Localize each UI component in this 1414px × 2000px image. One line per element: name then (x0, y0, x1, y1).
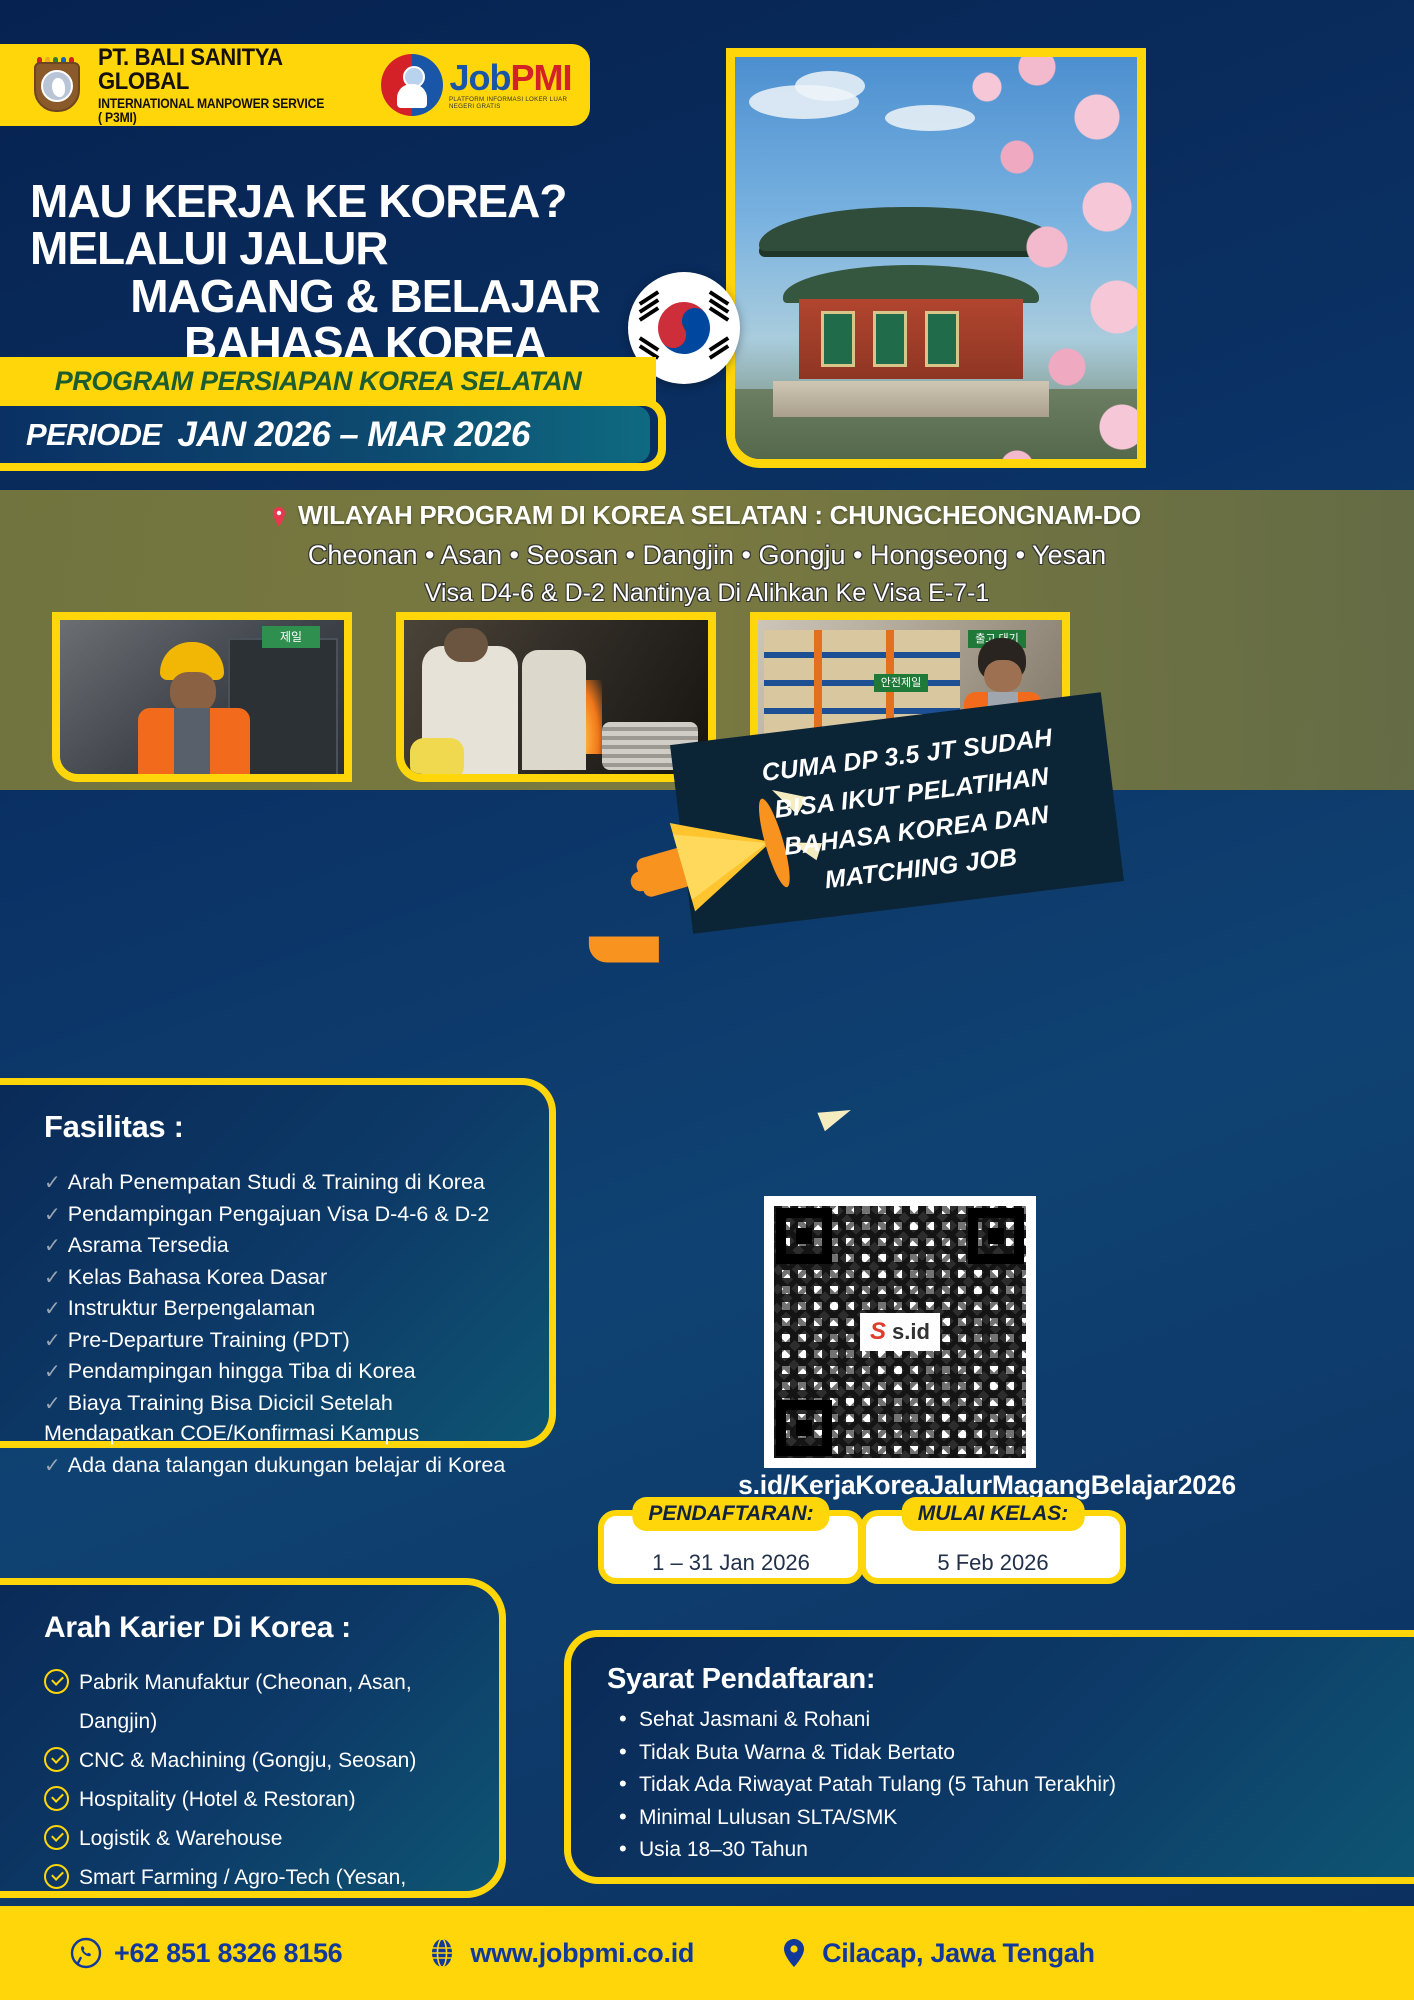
poster-root: PT. BALI SANITYA GLOBAL INTERNATIONAL MA… (0, 0, 1414, 2000)
warehouse-sign-1-text: 안전제일 (874, 674, 928, 692)
career-list: Pabrik Manufaktur (Cheonan, Asan, Dangji… (44, 1663, 477, 1936)
footer-website[interactable]: www.jobpmi.co.id (426, 1937, 694, 1969)
hero-palace-photo (726, 48, 1146, 468)
career-text: Logistik & Warehouse (79, 1819, 283, 1858)
facility-text: Ada dana talangan dukungan belajar di Ko… (68, 1453, 506, 1477)
registration-value: 1 – 31 Jan 2026 (604, 1550, 858, 1576)
list-item: ✓Pendampingan Pengajuan Visa D-4-6 & D-2 (44, 1199, 527, 1230)
circle-check-icon (44, 1747, 69, 1772)
circle-check-icon (44, 1864, 69, 1889)
list-item: ✓Biaya Training Bisa Dicicil Setelah Men… (44, 1388, 527, 1449)
footer-location: Cilacap, Jawa Tengah (778, 1937, 1095, 1969)
region-text-block: WILAYAH PROGRAM DI KOREA SELATAN : CHUNG… (0, 500, 1414, 608)
facility-text: Arah Penempatan Studi & Training di Kore… (68, 1170, 485, 1194)
photo-kitchen-worker (396, 612, 716, 782)
facility-text: Biaya Training Bisa Dicicil Setelah Mend… (44, 1391, 419, 1446)
period-bar: PERIODE JAN 2026 – MAR 2026 (0, 406, 650, 463)
headline-line-2: MELALUI JALUR (30, 225, 700, 272)
bali-sanitya-crest-icon (30, 54, 84, 116)
facility-text: Kelas Bahasa Korea Dasar (68, 1265, 327, 1289)
circle-check-icon (44, 1669, 69, 1694)
company-name-line1: PT. BALI SANITYA GLOBAL (98, 46, 333, 94)
check-icon: ✓ (44, 1204, 61, 1226)
facility-text: Pre-Departure Training (PDT) (68, 1328, 350, 1352)
check-icon: ✓ (44, 1361, 61, 1383)
hero-headline: MAU KERJA KE KOREA? MELALUI JALUR MAGANG… (0, 178, 700, 368)
registration-label: PENDAFTARAN: (632, 1497, 829, 1531)
sparkle-icon-3 (817, 1101, 854, 1132)
list-item: Sehat Jasmani & Rohani (607, 1704, 1392, 1737)
list-item: ✓Ada dana talangan dukungan belajar di K… (44, 1450, 527, 1481)
company-name-line2: INTERNATIONAL MANPOWER SERVICE ( P3MI) (98, 97, 328, 124)
sid-text: s.id (892, 1319, 930, 1345)
list-item: ✓Pendampingan hingga Tiba di Korea (44, 1356, 527, 1387)
list-item: ✓Asrama Tersedia (44, 1230, 527, 1261)
region-title: WILAYAH PROGRAM DI KOREA SELATAN : CHUNG… (298, 500, 1141, 530)
jobpmi-logo: JobPMI PLATFORM INFORMASI LOKER LUAR NEG… (381, 54, 590, 116)
sid-s-icon: S (870, 1318, 886, 1346)
factory-sign-text: 제일 (262, 626, 320, 648)
career-card: Arah Karier Di Korea : Pabrik Manufaktur… (0, 1578, 506, 1898)
facilities-card: Fasilitas : ✓Arah Penempatan Studi & Tra… (0, 1078, 556, 1448)
class-start-label: MULAI KELAS: (902, 1497, 1085, 1531)
list-item: Hospitality (Hotel & Restoran) (44, 1780, 477, 1819)
circle-check-icon (44, 1825, 69, 1850)
list-item: ✓Kelas Bahasa Korea Dasar (44, 1262, 527, 1293)
facility-text: Pendampingan hingga Tiba di Korea (68, 1359, 416, 1383)
map-pin-icon (273, 507, 285, 527)
company-name-block: PT. BALI SANITYA GLOBAL INTERNATIONAL MA… (98, 46, 353, 124)
check-icon: ✓ (44, 1330, 61, 1352)
list-item: Logistik & Warehouse (44, 1819, 477, 1858)
career-title: Arah Karier Di Korea : (44, 1611, 477, 1645)
footer-phone[interactable]: +62 851 8326 8156 (70, 1937, 342, 1969)
check-icon: ✓ (44, 1298, 61, 1320)
program-subtitle: PROGRAM PERSIAPAN KOREA SELATAN (55, 366, 582, 397)
list-item: Tidak Ada Riwayat Patah Tulang (5 Tahun … (607, 1769, 1392, 1802)
period-label: PERIODE (26, 417, 161, 453)
facilities-title: Fasilitas : (44, 1109, 527, 1145)
list-item: Tidak Buta Warna & Tidak Bertato (607, 1737, 1392, 1770)
requirements-list: Sehat Jasmani & Rohani Tidak Buta Warna … (607, 1704, 1392, 1867)
list-item: Usia 18–30 Tahun (607, 1834, 1392, 1867)
footer-phone-text: +62 851 8326 8156 (114, 1938, 342, 1969)
facilities-list: ✓Arah Penempatan Studi & Training di Kor… (44, 1167, 527, 1480)
list-item: ✓Instruktur Berpengalaman (44, 1293, 527, 1324)
globe-icon (426, 1937, 458, 1969)
jobpmi-tagline: PLATFORM INFORMASI LOKER LUAR NEGERI GRA… (449, 97, 582, 110)
list-item: ✓Pre-Departure Training (PDT) (44, 1325, 527, 1356)
whatsapp-icon (70, 1937, 102, 1969)
jobpmi-pmi-text: PMI (511, 57, 572, 98)
check-icon: ✓ (44, 1235, 61, 1257)
list-item: Pabrik Manufaktur (Cheonan, Asan, Dangji… (44, 1663, 477, 1741)
footer-contact-bar: +62 851 8326 8156 www.jobpmi.co.id Cilac… (0, 1906, 1414, 2000)
class-start-value: 5 Feb 2026 (866, 1550, 1120, 1576)
headline-line-3: MAGANG & BELAJAR (30, 273, 700, 320)
registration-date-box: PENDAFTARAN: 1 – 31 Jan 2026 (598, 1510, 864, 1584)
jobpmi-job-text: Job (449, 57, 510, 98)
career-text: CNC & Machining (Gongju, Seosan) (79, 1741, 416, 1780)
list-item: CNC & Machining (Gongju, Seosan) (44, 1741, 477, 1780)
footer-location-text: Cilacap, Jawa Tengah (822, 1938, 1095, 1969)
photo-factory-worker: 제일 (52, 612, 352, 782)
check-icon: ✓ (44, 1172, 61, 1194)
location-pin-icon (778, 1937, 810, 1969)
qr-code[interactable]: S s.id (764, 1196, 1036, 1468)
logo-bar: PT. BALI SANITYA GLOBAL INTERNATIONAL MA… (0, 44, 590, 126)
program-subtitle-bar: PROGRAM PERSIAPAN KOREA SELATAN (0, 357, 656, 405)
footer-website-text: www.jobpmi.co.id (470, 1938, 694, 1969)
region-visa-note: Visa D4-6 & D-2 Nantinya Di Alihkan Ke V… (0, 579, 1414, 608)
requirements-title: Syarat Pendaftaran: (607, 1663, 1392, 1696)
facility-text: Pendampingan Pengajuan Visa D-4-6 & D-2 (68, 1202, 490, 1226)
check-icon: ✓ (44, 1393, 61, 1415)
requirements-card: Syarat Pendaftaran: Sehat Jasmani & Roha… (564, 1630, 1414, 1884)
facility-text: Asrama Tersedia (68, 1233, 229, 1257)
facility-text: Instruktur Berpengalaman (68, 1296, 315, 1320)
class-start-date-box: MULAI KELAS: 5 Feb 2026 (860, 1510, 1126, 1584)
career-text: Hospitality (Hotel & Restoran) (79, 1780, 356, 1819)
check-icon: ✓ (44, 1455, 61, 1477)
region-cities: Cheonan • Asan • Seosan • Dangjin • Gong… (0, 540, 1414, 571)
period-value: JAN 2026 – MAR 2026 (177, 415, 529, 455)
headline-line-1: MAU KERJA KE KOREA? (30, 178, 700, 225)
circle-check-icon (44, 1786, 69, 1811)
career-text: Pabrik Manufaktur (Cheonan, Asan, Dangji… (79, 1663, 477, 1741)
check-icon: ✓ (44, 1267, 61, 1289)
sid-logo: S s.id (860, 1313, 940, 1351)
list-item: Minimal Lulusan SLTA/SMK (607, 1802, 1392, 1835)
list-item: ✓Arah Penempatan Studi & Training di Kor… (44, 1167, 527, 1198)
jobpmi-mark-icon (381, 54, 443, 116)
